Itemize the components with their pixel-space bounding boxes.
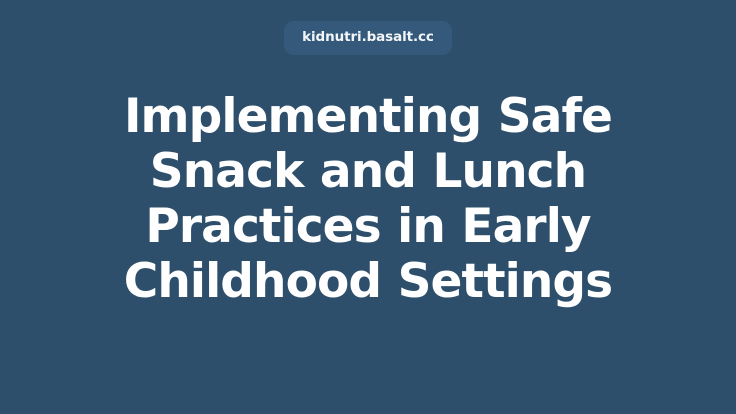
page-title-line-3: Practices in Early — [38, 199, 698, 254]
page-title: Implementing Safe Snack and Lunch Practi… — [38, 89, 698, 309]
page-title-line-4: Childhood Settings — [38, 254, 698, 309]
url-badge: kidnutri.basalt.cc — [284, 21, 452, 55]
page-title-line-1: Implementing Safe — [38, 89, 698, 144]
url-badge-label: kidnutri.basalt.cc — [302, 31, 434, 45]
page-title-line-2: Snack and Lunch — [38, 144, 698, 199]
title-slide: kidnutri.basalt.cc Implementing Safe Sna… — [0, 0, 736, 414]
